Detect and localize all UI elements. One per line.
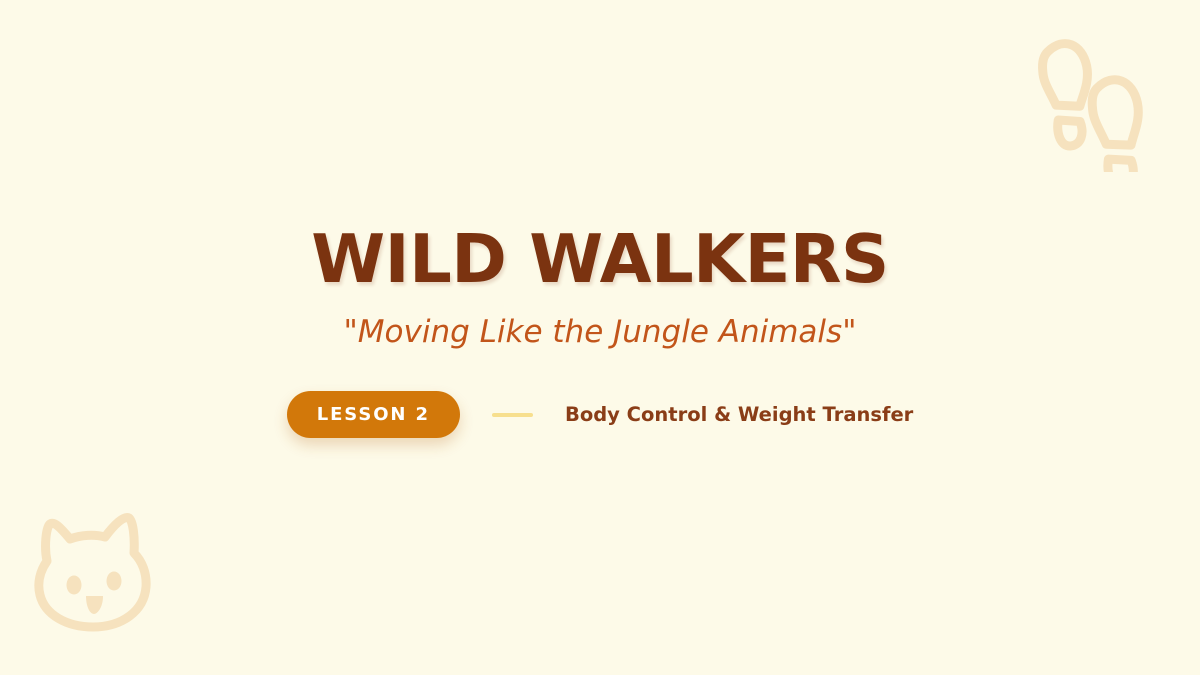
lesson-title-slide: WILD WALKERS "Moving Like the Jungle Ani… [0,0,1200,675]
divider [492,413,533,417]
hero-block: WILD WALKERS "Moving Like the Jungle Ani… [0,226,1200,438]
lesson-meta-row: LESSON 2 Body Control & Weight Transfer [287,391,914,438]
page-subtitle: "Moving Like the Jungle Animals" [344,315,857,349]
page-title: WILD WALKERS [311,226,888,293]
footprints-icon [1022,22,1162,172]
cat-face-icon [30,501,162,633]
lesson-number-badge[interactable]: LESSON 2 [287,391,460,438]
lesson-topic-label: Body Control & Weight Transfer [565,403,913,426]
